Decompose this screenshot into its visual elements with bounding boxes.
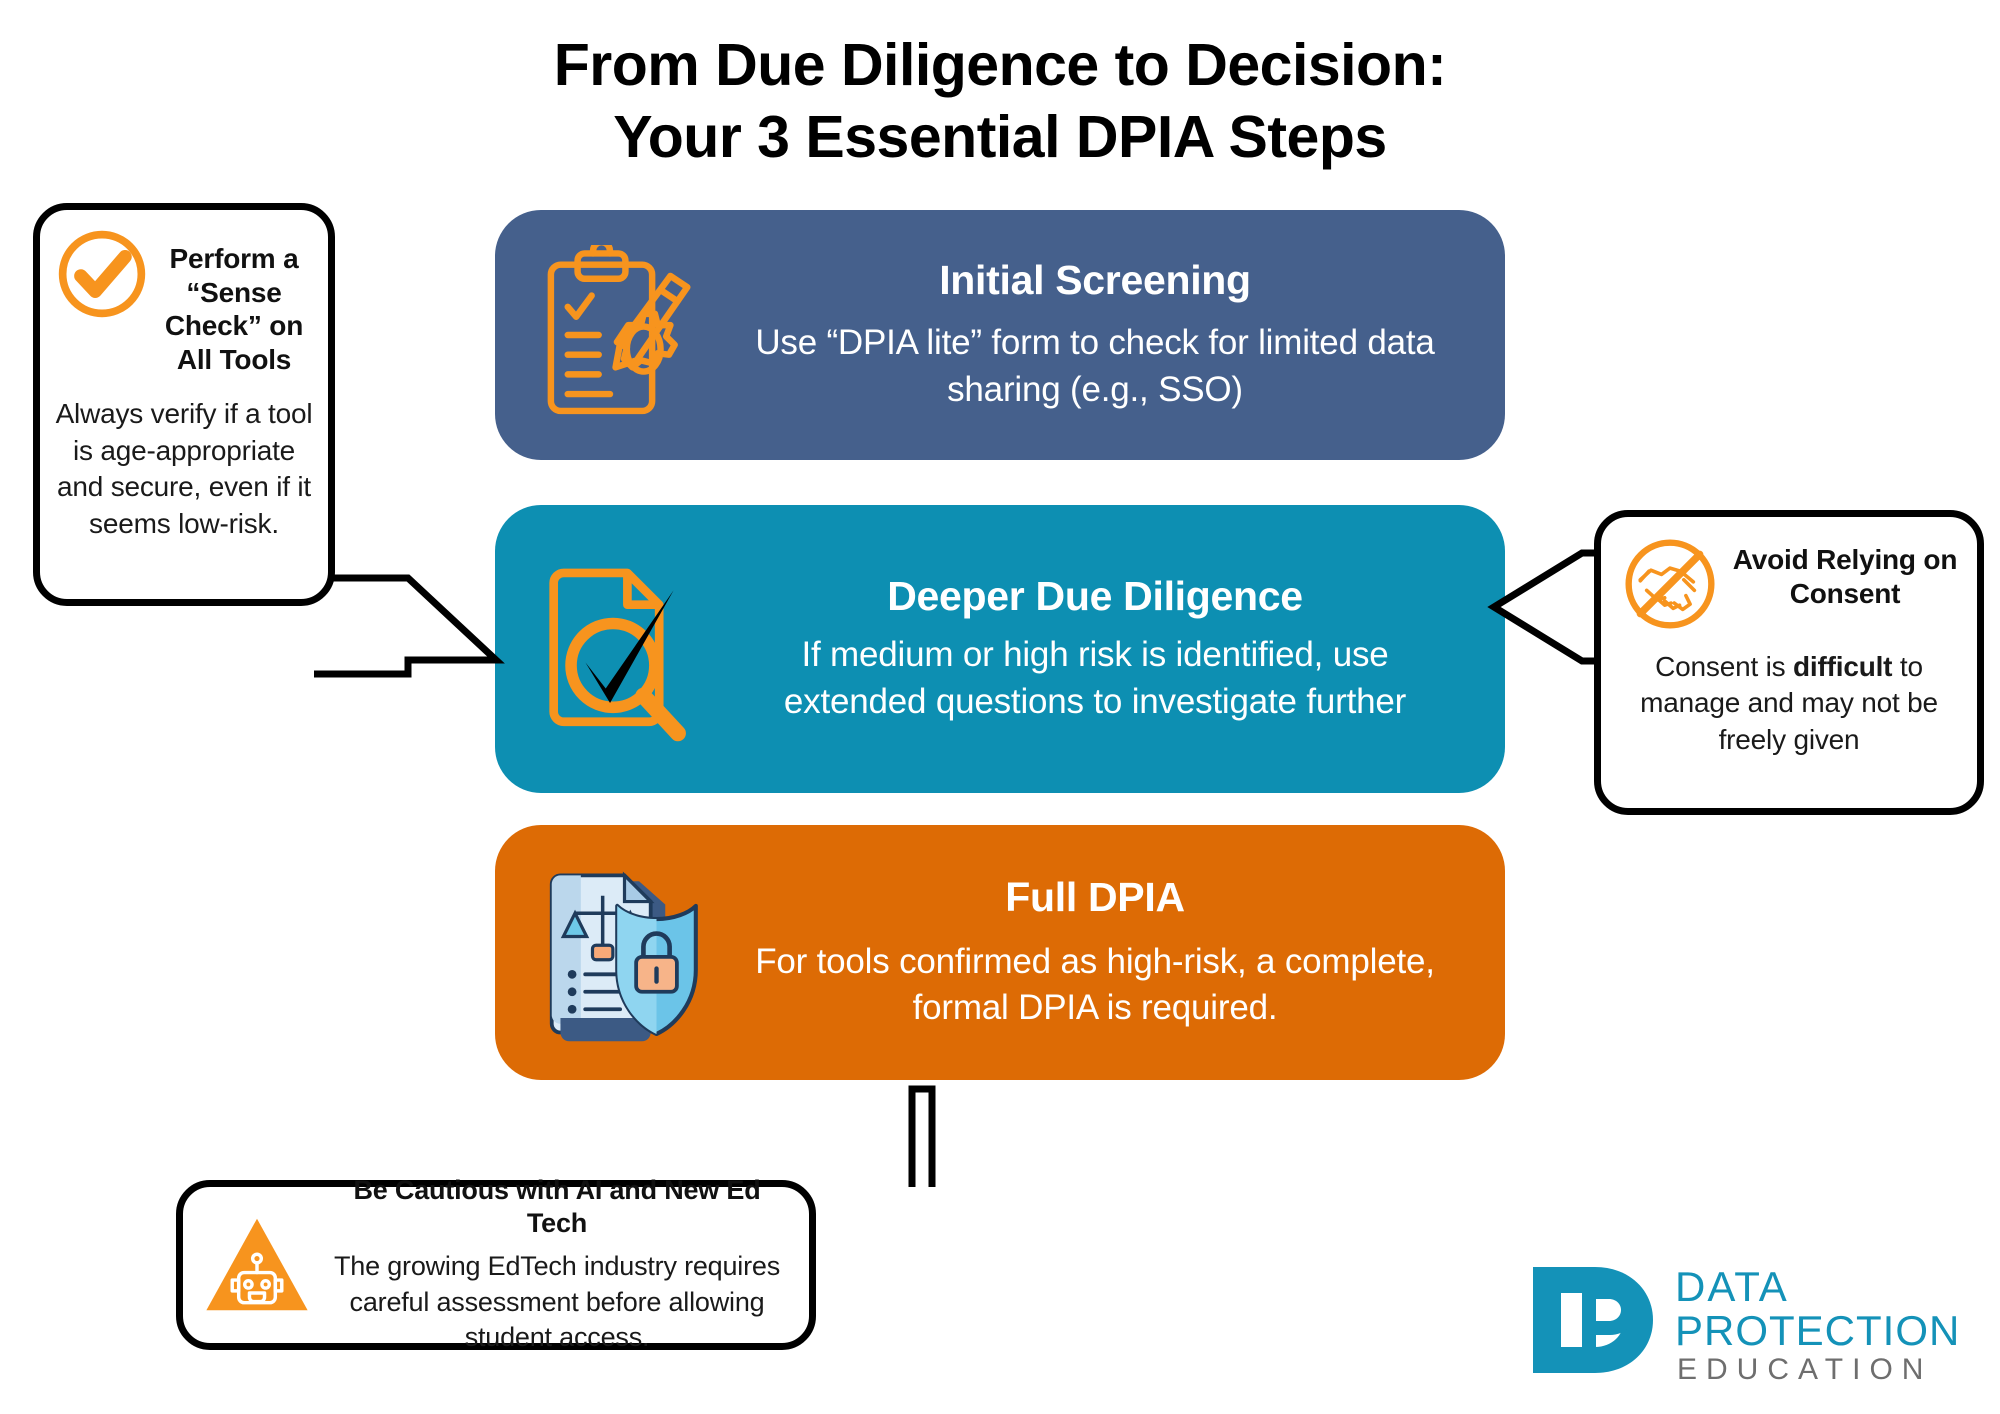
no-handshake-icon: [1617, 531, 1723, 637]
callout-tail-bottom: [790, 1075, 1030, 1205]
callout-body: Always verify if a tool is age-appropria…: [54, 396, 314, 542]
callout-heading: Perform a “Sense Check” on All Tools: [154, 226, 314, 376]
callout-body: The growing EdTech industry requires car…: [323, 1249, 791, 1356]
callout-body-emphasis: difficult: [1793, 651, 1892, 682]
logo-line-2: PROTECTION: [1675, 1307, 1960, 1354]
logo-line-1: DATA: [1675, 1263, 1789, 1310]
check-circle-icon: [54, 226, 150, 322]
title-line-1: From Due Diligence to Decision:: [0, 30, 2000, 102]
callout-body: Consent is difficult to manage and may n…: [1617, 649, 1961, 758]
callout-inner: Be Cautious with AI and New Ed Tech The …: [201, 1199, 791, 1331]
step-card-deeper-due-diligence[interactable]: Deeper Due Diligence If medium or high r…: [495, 505, 1505, 793]
callout-header-row: Avoid Relying on Consent: [1617, 531, 1961, 637]
brand-logo: DATA PROTECTION EDUCATION: [1525, 1255, 1965, 1385]
clipboard-gear-pencil-icon: [519, 210, 729, 460]
callout-body-part1: Consent is: [1655, 651, 1793, 682]
callout-text-column: Be Cautious with AI and New Ed Tech The …: [323, 1174, 791, 1356]
legal-document-shield-lock-icon: [519, 825, 729, 1080]
callout-avoid-consent[interactable]: Avoid Relying on Consent Consent is diff…: [1594, 510, 1984, 815]
callout-header-row: Perform a “Sense Check” on All Tools: [54, 226, 314, 376]
infographic-canvas: From Due Diligence to Decision: Your 3 E…: [0, 0, 2000, 1414]
step-heading: Initial Screening: [729, 257, 1461, 304]
step-body: For tools confirmed as high-risk, a comp…: [729, 939, 1461, 1031]
document-magnifier-check-icon: [519, 505, 729, 793]
callout-heading: Be Cautious with AI and New Ed Tech: [323, 1174, 791, 1239]
callout-ai-caution[interactable]: Be Cautious with AI and New Ed Tech The …: [176, 1180, 816, 1350]
step-heading: Full DPIA: [729, 874, 1461, 921]
title-line-2: Your 3 Essential DPIA Steps: [0, 102, 2000, 174]
logo-mark: [1533, 1267, 1653, 1373]
step-card-text: Initial Screening Use “DPIA lite” form t…: [729, 257, 1471, 413]
step-card-initial-screening[interactable]: Initial Screening Use “DPIA lite” form t…: [495, 210, 1505, 460]
callout-heading: Avoid Relying on Consent: [1729, 531, 1961, 610]
step-heading: Deeper Due Diligence: [729, 573, 1461, 620]
step-card-text: Deeper Due Diligence If medium or high r…: [729, 573, 1471, 725]
robot-warning-triangle-icon: [201, 1211, 313, 1319]
page-title: From Due Diligence to Decision: Your 3 E…: [0, 30, 2000, 174]
step-card-text: Full DPIA For tools confirmed as high-ri…: [729, 874, 1471, 1032]
step-card-full-dpia[interactable]: Full DPIA For tools confirmed as high-ri…: [495, 825, 1505, 1080]
logo-line-3: EDUCATION: [1677, 1353, 1932, 1385]
step-body: Use “DPIA lite” form to check for limite…: [729, 320, 1461, 412]
callout-sense-check[interactable]: Perform a “Sense Check” on All Tools Alw…: [33, 203, 335, 606]
step-body: If medium or high risk is identified, us…: [729, 632, 1461, 724]
callout-tail-left: [300, 570, 520, 680]
